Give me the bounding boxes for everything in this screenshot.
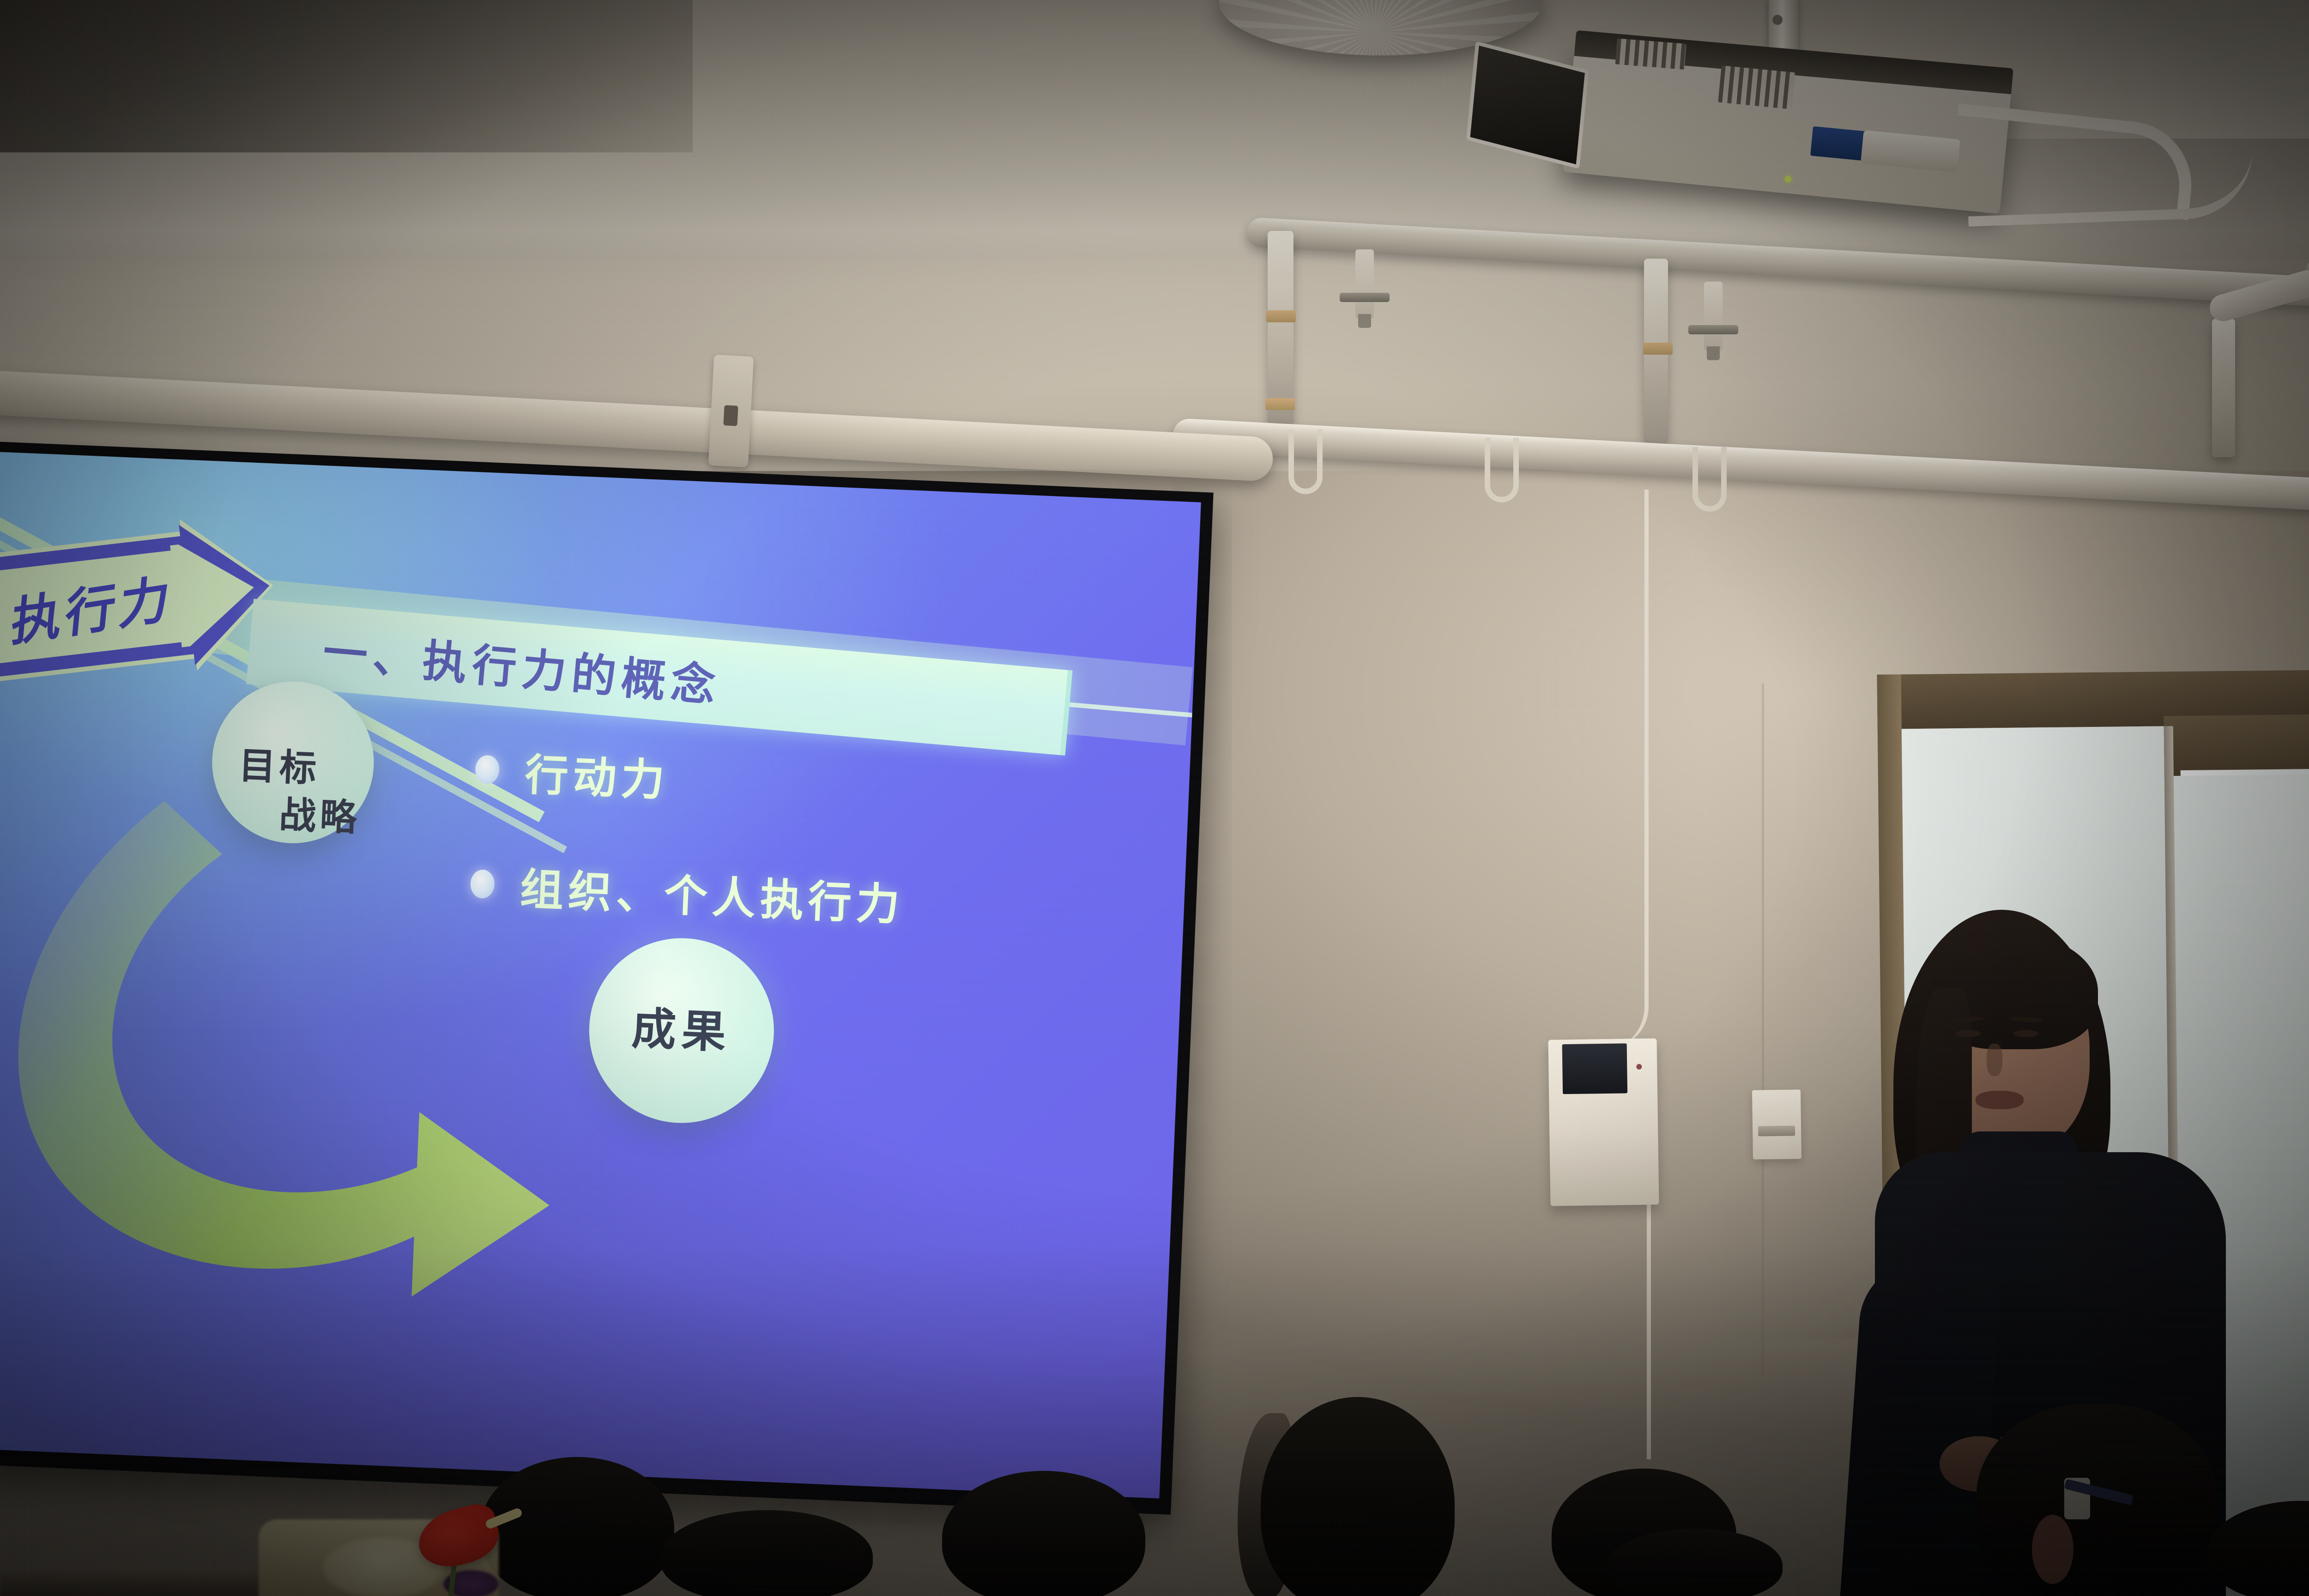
sprinkler-pipe-drop-far-right [2212,319,2235,457]
presenter-nose [1987,1044,2002,1076]
projector-vent [1615,38,1686,70]
bullet-label: 行动力 [524,740,670,809]
wall-light-switch[interactable] [1752,1089,1801,1159]
slide-canvas: 执行力 一、执行力的概念 目标 战略 成果 行动力 [0,452,1201,1499]
pipe-clamp [1288,429,1323,494]
projector-vent [1718,66,1795,109]
bullet-label: 组织、个人执行力 [519,854,906,933]
sprinkler-head-icon [1704,282,1723,351]
sprinkler-pipe-drop-left [1268,231,1294,425]
slide-bullet-list: 行动力 组织、个人执行力 [467,738,910,985]
intercom-panel[interactable] [1548,1038,1659,1206]
ceiling-shadow [0,0,693,152]
execution-arrow-banner: 执行力 [0,509,282,696]
presenter-eye [1956,1030,1981,1037]
audience-head [942,1471,1145,1596]
bubble-strategy-label: 战略 [278,785,362,842]
audience-head [660,1510,873,1596]
screen-housing-bracket [708,355,754,467]
wall-cable [1538,490,1649,1048]
projection-screen: 执行力 一、执行力的概念 目标 战略 成果 行动力 [0,441,1214,1515]
bullet-item: 行动力 [474,738,910,818]
pipe-clamp [1485,438,1519,502]
presenter-eye [2013,1030,2038,1037]
conference-room-scene: 执行力 一、执行力的概念 目标 战略 成果 行动力 [0,0,2309,1596]
bullet-dot-icon [475,755,500,784]
presenter-mouth [1976,1091,2024,1109]
projector-vga-port [1810,126,1868,161]
sprinkler-head-icon [1355,249,1374,319]
bubble-result-label: 成果 [631,1003,732,1058]
bubble-goal-label: 目标 [238,736,321,792]
projector-connector [1861,130,1960,173]
bullet-dot-icon [470,869,496,899]
intercom-display [1562,1043,1627,1094]
audience-head-with-glasses [1977,1404,2217,1596]
intercom-led-icon [1636,1064,1642,1070]
wall-cable-lower [1596,1201,1651,1459]
pipe-clamp [1692,447,1727,512]
audience-ear [2032,1515,2073,1584]
door-header-beam-right [2164,713,2309,776]
audience-head [480,1457,674,1596]
pipe-band [1643,343,1673,355]
pipe-band [1265,398,1295,410]
wall-seam [1762,683,1764,1376]
audience-head [1607,1529,1783,1596]
projector-status-led-icon [1784,175,1791,182]
presenter-arm [1840,1256,2002,1596]
pipe-band [1266,310,1296,322]
bullet-item: 组织、个人执行力 [469,852,906,933]
